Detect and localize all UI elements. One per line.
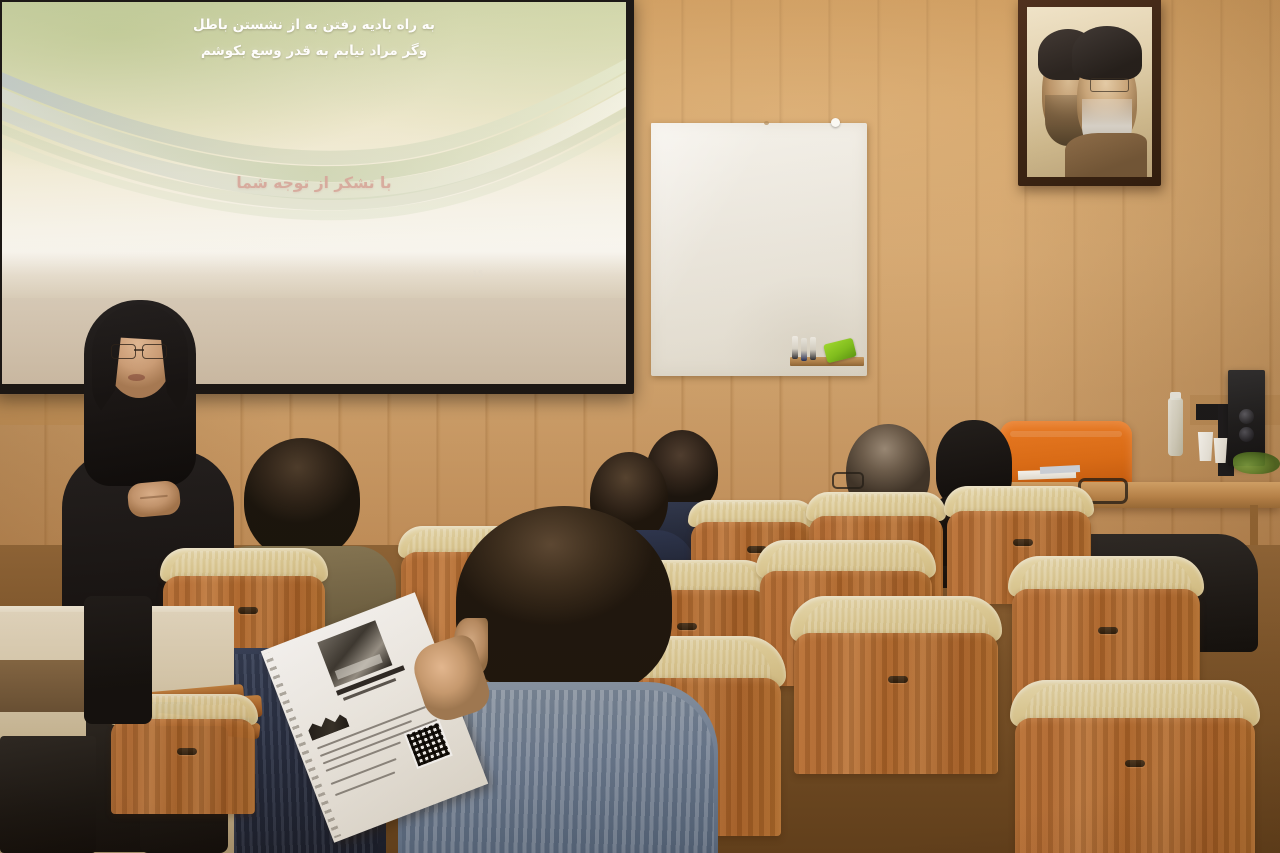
whiteboard-mount-screw	[831, 118, 840, 127]
conference-hall-photo: به راه بادیه رفتن به از نشستن باطل وگر م…	[0, 0, 1280, 853]
whiteboard-glare	[651, 123, 867, 376]
portrait-glasses-icon	[1090, 78, 1130, 92]
seat-handle-slot	[1098, 627, 1118, 634]
handout-text-line	[331, 758, 397, 785]
table-leg-right	[1250, 505, 1258, 545]
slide-quote-line-1: به راه بادیه رفتن به از نشستن باطل	[2, 12, 626, 38]
presenter-glasses-icon	[111, 344, 167, 357]
presenter-hand-crease	[140, 495, 168, 499]
seat-handle-slot	[888, 676, 908, 683]
framed-portrait	[1018, 0, 1161, 186]
handout-logo	[306, 710, 350, 741]
seat-handle-slot	[177, 748, 197, 755]
portrait-robe	[1065, 133, 1148, 177]
table-plant	[1233, 452, 1280, 474]
speaker-driver-bottom-icon	[1239, 427, 1254, 442]
attendee-glasses-icon	[832, 472, 864, 489]
slide-quote-line-2: وگر مراد نیابم به قدر وسع بکوشم	[2, 38, 626, 64]
lecture-seat[interactable]	[790, 596, 1002, 774]
speaker-driver-top-icon	[1239, 409, 1254, 424]
slide-quote: به راه بادیه رفتن به از نشستن باطل وگر م…	[2, 12, 626, 65]
marker-black-icon	[792, 336, 798, 359]
whiteboard-mount-screw-2	[764, 121, 769, 125]
portrait-turban-front	[1072, 26, 1142, 80]
attendee-head	[456, 506, 672, 698]
portrait-photo	[1027, 7, 1152, 177]
lecture-seat[interactable]	[1010, 680, 1260, 853]
marker-black-2-icon	[810, 337, 816, 360]
seat-back	[1015, 718, 1255, 853]
seat-handle-slot	[1013, 539, 1033, 546]
handout-text-line	[335, 771, 395, 796]
presenter-lower-body	[84, 596, 152, 724]
seat-handle-slot	[1125, 760, 1145, 767]
slide-lower-band	[2, 252, 626, 298]
slide-thanks-text: با تشکر از توجه شما	[2, 174, 626, 192]
presenter-mouth	[128, 374, 145, 381]
presenter-clasped-hands	[127, 480, 182, 518]
seat-cushion-dark-2	[0, 736, 96, 853]
whiteboard	[651, 123, 867, 376]
marker-blue-icon	[801, 338, 807, 361]
slide-number: 15	[472, 270, 483, 280]
seat-back	[111, 719, 255, 814]
seat-back	[794, 633, 998, 774]
attendee-head	[244, 438, 360, 560]
